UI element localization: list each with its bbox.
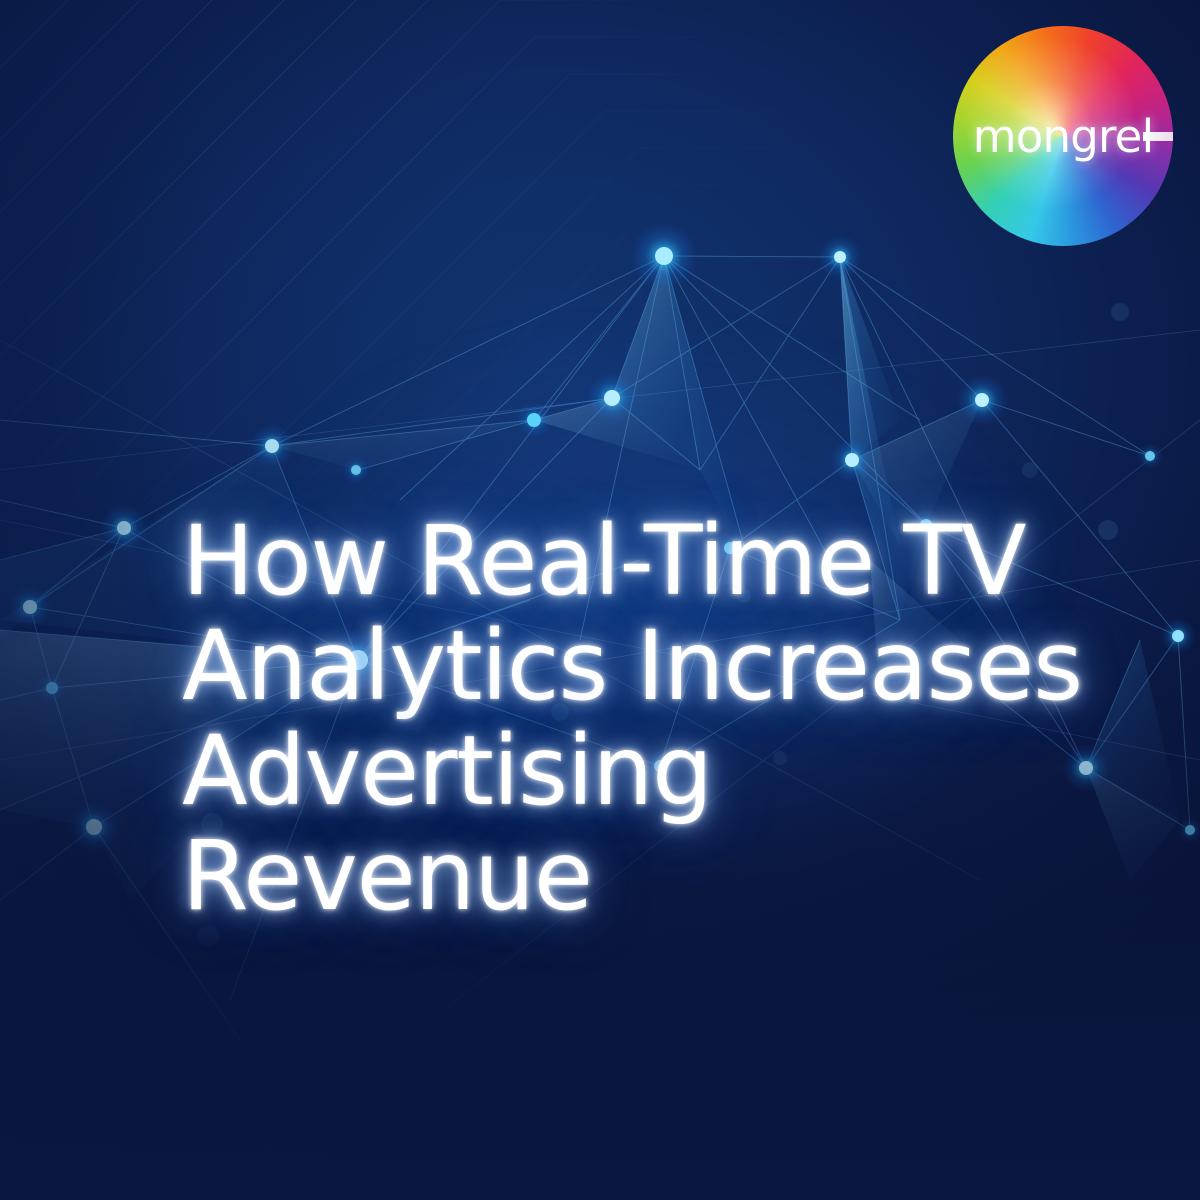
page-title: How Real-Time TV Analytics Increases Adv… xyxy=(182,509,1082,929)
social-card: How Real-Time TV Analytics Increases Adv… xyxy=(0,0,1200,1200)
brand-name: mongrel xyxy=(953,114,1173,159)
brand-logo[interactable]: mongrel xyxy=(953,26,1173,246)
